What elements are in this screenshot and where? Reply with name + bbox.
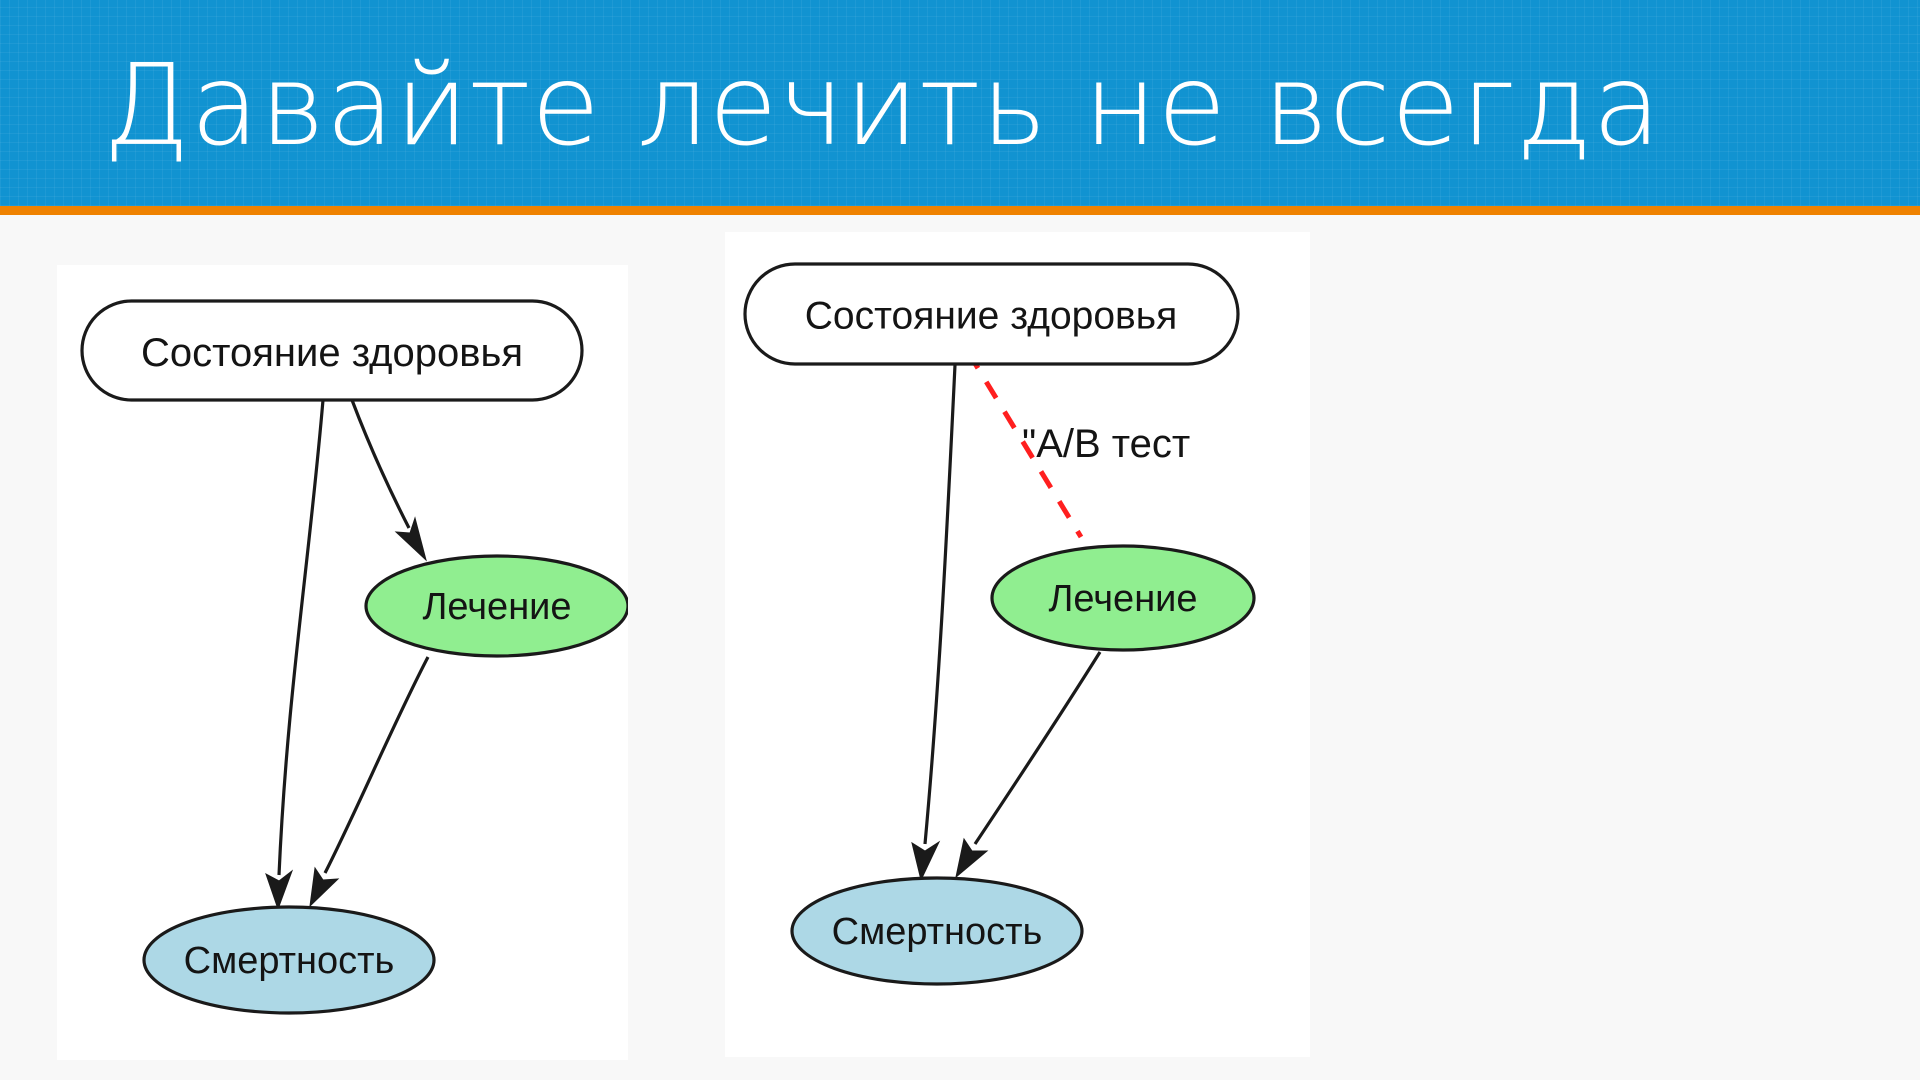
edge-health-to-mortality [925, 365, 955, 844]
node-health-state-label: Состояние здоровья [805, 295, 1177, 338]
node-mortality[interactable]: Смертность [792, 878, 1082, 984]
edge-health-to-mortality [279, 400, 323, 875]
node-treatment[interactable]: Лечение [992, 546, 1254, 650]
slide-canvas: Давайте лечить не всегда Состояние здоро… [0, 0, 1920, 1080]
node-treatment-label: Лечение [1048, 578, 1197, 620]
edge-annotation-ab-test: "A/B тест [1022, 422, 1190, 466]
arrowhead-treatment-to-mortality [956, 839, 987, 877]
edge-health-to-treatment [352, 400, 409, 528]
node-mortality-label: Смертность [832, 911, 1043, 953]
node-health-state-label: Состояние здоровья [141, 331, 523, 375]
title-banner: Давайте лечить не всегда [0, 0, 1920, 206]
node-health-state[interactable]: Состояние здоровья [745, 264, 1238, 364]
arrowhead-health-to-mortality [266, 871, 292, 909]
node-health-state[interactable]: Состояние здоровья [82, 301, 582, 400]
arrowhead-health-to-mortality [912, 842, 939, 880]
slide-body: Состояние здоровья Лечение Смертность [0, 215, 1920, 1080]
diagram-randomized: "A/B тест Состояние здоровья Лечение Сме… [725, 232, 1310, 1057]
node-mortality[interactable]: Смертность [144, 907, 434, 1013]
edge-treatment-to-mortality [325, 657, 428, 873]
diagram-observational: Состояние здоровья Лечение Смертность [57, 265, 628, 1060]
node-treatment-label: Лечение [422, 586, 571, 628]
title-accent-bar [0, 206, 1920, 215]
page-title: Давайте лечить не всегда [103, 48, 1661, 166]
node-treatment[interactable]: Лечение [366, 556, 628, 656]
arrowhead-health-to-treatment [396, 518, 426, 560]
arrowhead-treatment-to-mortality [310, 868, 338, 906]
edge-treatment-to-mortality [975, 652, 1100, 844]
node-mortality-label: Смертность [184, 940, 395, 982]
